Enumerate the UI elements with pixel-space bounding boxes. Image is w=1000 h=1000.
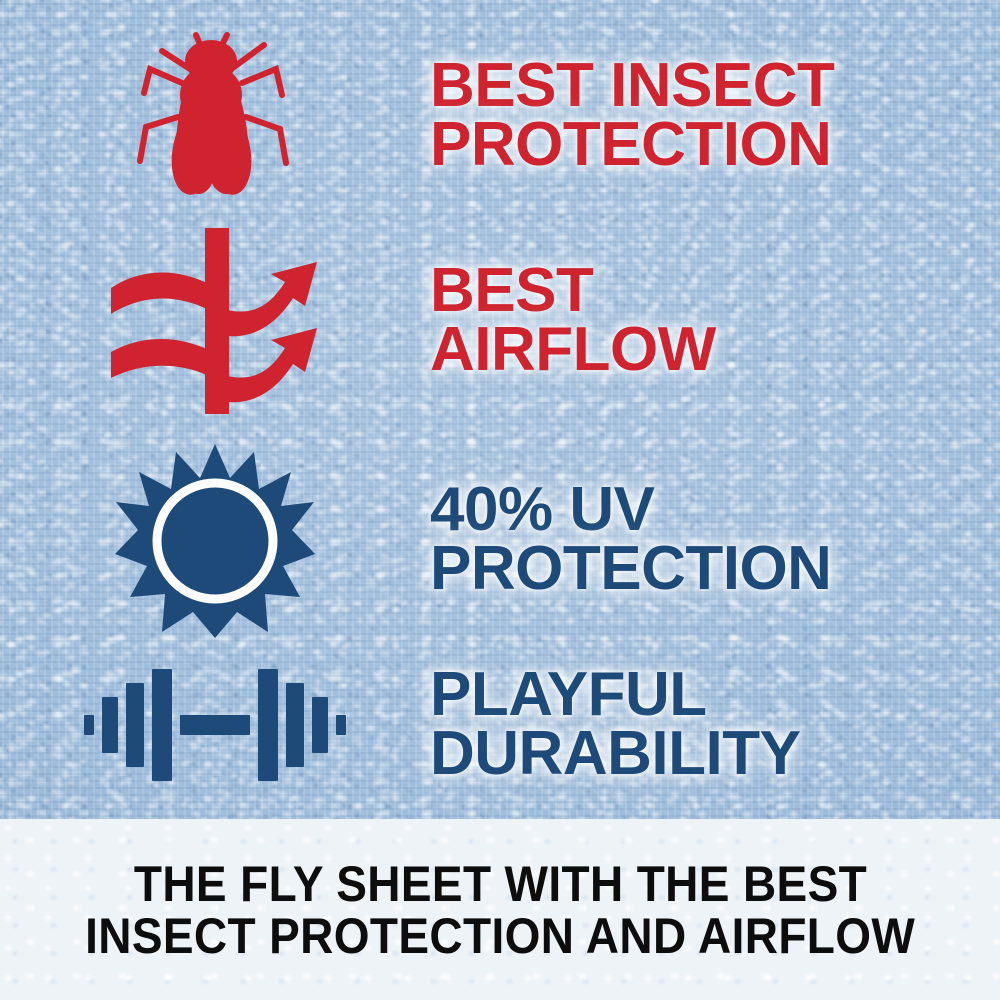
- feature-row-uv-protection: 40% UV PROTECTION: [0, 440, 1000, 640]
- airflow-arrows-icon: [105, 226, 325, 416]
- icon-slot-2: [0, 226, 430, 416]
- feature-label-airflow: BEST AIRFLOW: [430, 262, 986, 380]
- icon-slot-3: [0, 442, 430, 638]
- feature-row-airflow: BEST AIRFLOW: [0, 226, 1000, 416]
- icon-slot-4: [0, 665, 430, 785]
- product-feature-poster: BEST INSECT PROTECTION: [0, 0, 1000, 1000]
- banner-line-1: THE FLY SHEET WITH THE BEST: [133, 858, 866, 910]
- barbell-icon: [84, 665, 346, 785]
- feature-list: BEST INSECT PROTECTION: [0, 0, 1000, 819]
- fly-icon: [130, 21, 300, 211]
- text-slot-2: BEST AIRFLOW: [430, 262, 1000, 380]
- feature-label-insect-protection: BEST INSECT PROTECTION: [430, 57, 986, 175]
- text-slot-3: 40% UV PROTECTION: [430, 481, 1000, 599]
- text-slot-4: PLAYFUL DURABILITY: [430, 666, 1000, 784]
- feature-row-insect-protection: BEST INSECT PROTECTION: [0, 18, 1000, 214]
- icon-slot-1: [0, 21, 430, 211]
- feature-label-uv-protection: 40% UV PROTECTION: [430, 481, 986, 599]
- feature-row-durability: PLAYFUL DURABILITY: [0, 655, 1000, 795]
- text-slot-1: BEST INSECT PROTECTION: [430, 57, 1000, 175]
- feature-label-durability: PLAYFUL DURABILITY: [430, 666, 986, 784]
- bottom-banner: THE FLY SHEET WITH THE BEST INSECT PROTE…: [0, 819, 1000, 1000]
- sun-uv-icon: [115, 442, 315, 638]
- banner-line-2: INSECT PROTECTION AND AIRFLOW: [85, 910, 915, 962]
